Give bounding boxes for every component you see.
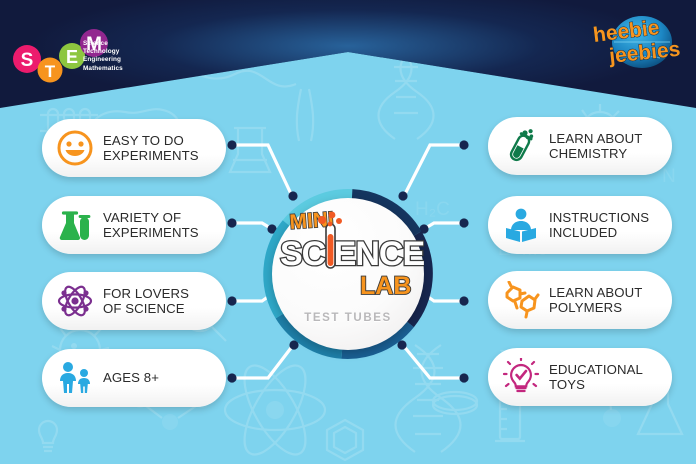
test-tube-bubbles-icon (502, 127, 540, 165)
stem-caption-line-1: Science (83, 40, 123, 48)
feature-label: VARIETY OF EXPERIMENTS (103, 210, 199, 241)
feature-card-variety-of-experiments[interactable]: VARIETY OF EXPERIMENTS (42, 196, 226, 254)
feature-card-instructions-included[interactable]: INSTRUCTIONS INCLUDED (488, 196, 672, 254)
feature-label: LEARN ABOUT CHEMISTRY (549, 131, 642, 162)
svg-text:S: S (21, 50, 34, 71)
center-hub: MINI SCIENCE LAB TEST TUBES (256, 182, 440, 366)
feature-label: INSTRUCTIONS INCLUDED (549, 210, 649, 241)
lightbulb-check-icon (502, 358, 540, 396)
stem-caption-line-2: Technology (83, 48, 123, 56)
stem-caption: Science Technology Engineering Mathemati… (83, 40, 123, 73)
flask-test-tube-icon (56, 206, 94, 244)
polymer-molecule-icon (502, 281, 540, 319)
infographic-stage: H₂C E=Mc² N (0, 0, 696, 464)
feature-label: AGES 8+ (103, 370, 159, 385)
people-icon (56, 359, 94, 397)
feature-card-for-lovers-of-science[interactable]: FOR LOVERS OF SCIENCE (42, 272, 226, 330)
hub-subtitle: TEST TUBES (272, 312, 424, 324)
stem-caption-line-4: Mathematics (83, 65, 123, 73)
feature-card-educational-toys[interactable]: EDUCATIONAL TOYS (488, 348, 672, 406)
logo-science-text: SCIENCE (280, 235, 424, 273)
mini-science-lab-logo: MINI SCIENCE LAB (272, 204, 424, 308)
feature-card-learn-about-chemistry[interactable]: LEARN ABOUT CHEMISTRY (488, 117, 672, 175)
feature-label: EASY TO DO EXPERIMENTS (103, 133, 199, 164)
heebie-jeebies-logo: heebie jeebies (586, 12, 690, 70)
feature-label: EDUCATIONAL TOYS (549, 362, 643, 393)
smiley-face-icon (56, 129, 94, 167)
svg-text:N: N (662, 166, 676, 187)
atom-icon (56, 282, 94, 320)
stem-caption-line-3: Engineering (83, 56, 123, 64)
svg-text:T: T (45, 62, 56, 81)
feature-label: LEARN ABOUT POLYMERS (549, 285, 642, 316)
person-reading-book-icon (502, 206, 540, 244)
feature-card-learn-about-polymers[interactable]: LEARN ABOUT POLYMERS (488, 271, 672, 329)
stem-logo: S T E M Science Technology Engineering M… (10, 26, 152, 88)
feature-card-easy-to-do-experiments[interactable]: EASY TO DO EXPERIMENTS (42, 119, 226, 177)
logo-lab-text: LAB (360, 272, 411, 300)
feature-label: FOR LOVERS OF SCIENCE (103, 286, 189, 317)
feature-card-ages-8-plus[interactable]: AGES 8+ (42, 349, 226, 407)
svg-text:E: E (66, 47, 78, 67)
